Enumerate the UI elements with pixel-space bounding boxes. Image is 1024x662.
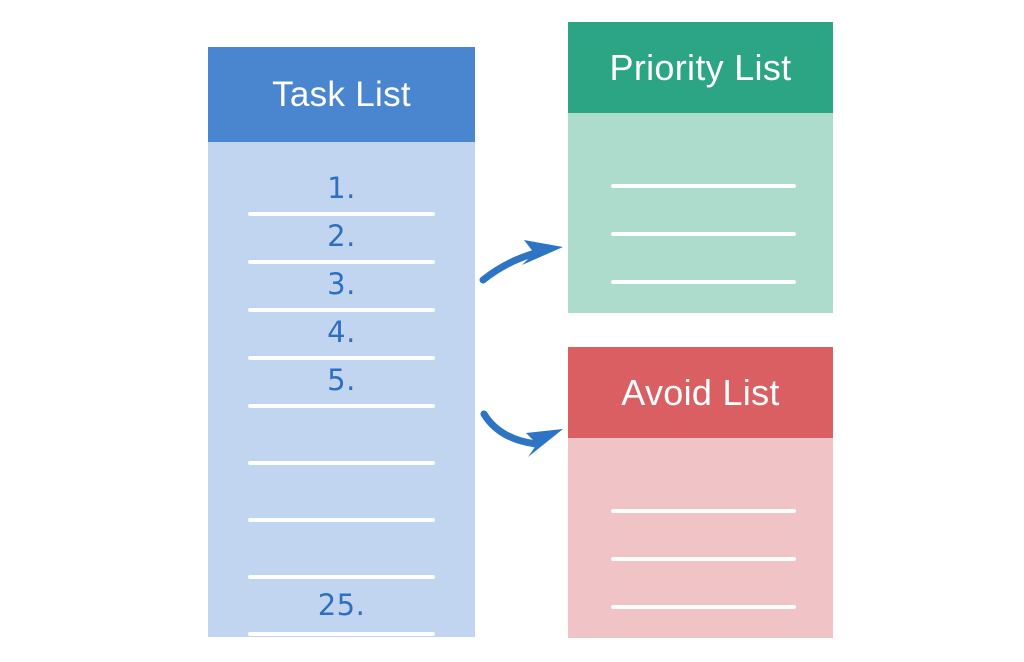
task-row-number: 4. xyxy=(208,318,475,347)
task-row-number: 25. xyxy=(208,591,475,620)
arrow-layer xyxy=(0,0,1024,662)
priority-list-rows xyxy=(568,113,833,313)
list-item[interactable]: 25. xyxy=(208,585,475,642)
task-row-rule xyxy=(248,461,435,465)
list-item[interactable]: 4. xyxy=(208,318,475,366)
task-row-rule xyxy=(248,632,435,636)
avoid-row-rule xyxy=(611,509,796,513)
avoid-list-body xyxy=(568,438,833,638)
task-row-rule xyxy=(248,260,435,264)
list-item[interactable]: 5. xyxy=(208,366,475,414)
priority-list-header: Priority List xyxy=(568,22,833,113)
list-item[interactable]: 3. xyxy=(208,270,475,318)
list-item[interactable]: 2. xyxy=(208,222,475,270)
task-row-rule xyxy=(248,212,435,216)
avoid-list-title: Avoid List xyxy=(621,375,779,411)
list-item[interactable] xyxy=(568,526,833,574)
avoid-list-card[interactable]: Avoid List xyxy=(568,347,833,638)
task-row-rule xyxy=(248,356,435,360)
task-list-rows: 1. 2. 3. 4. 5. xyxy=(208,142,475,637)
avoid-list-header: Avoid List xyxy=(568,347,833,438)
avoid-row-rule xyxy=(611,557,796,561)
task-list-header: Task List xyxy=(208,47,475,142)
task-row-rule xyxy=(248,404,435,408)
list-item[interactable] xyxy=(568,249,833,297)
list-item[interactable] xyxy=(208,414,475,471)
task-list-body: 1. 2. 3. 4. 5. xyxy=(208,142,475,637)
task-row-number: 3. xyxy=(208,270,475,299)
task-row-rule xyxy=(248,308,435,312)
priority-list-title: Priority List xyxy=(610,50,792,86)
list-item[interactable] xyxy=(208,471,475,528)
priority-row-rule xyxy=(611,280,796,284)
list-item[interactable] xyxy=(568,478,833,526)
task-list-card[interactable]: Task List 1. 2. 3. 4. xyxy=(208,47,475,637)
priority-list-body xyxy=(568,113,833,313)
task-list-title: Task List xyxy=(272,77,411,112)
priority-list-card[interactable]: Priority List xyxy=(568,22,833,313)
list-item[interactable] xyxy=(208,528,475,585)
arrow-to-priority-icon xyxy=(483,240,563,280)
avoid-row-rule xyxy=(611,605,796,609)
task-row-number: 5. xyxy=(208,366,475,395)
priority-row-rule xyxy=(611,232,796,236)
task-row-number: 2. xyxy=(208,222,475,251)
task-row-rule xyxy=(248,575,435,579)
arrow-to-avoid-icon xyxy=(484,414,563,457)
diagram-canvas: Task List 1. 2. 3. 4. xyxy=(0,0,1024,662)
priority-row-rule xyxy=(611,184,796,188)
task-row-rule xyxy=(248,518,435,522)
list-item[interactable]: 1. xyxy=(208,174,475,222)
list-item[interactable] xyxy=(568,201,833,249)
list-item[interactable] xyxy=(568,153,833,201)
list-item[interactable] xyxy=(568,574,833,622)
avoid-list-rows xyxy=(568,438,833,638)
task-row-number: 1. xyxy=(208,174,475,203)
